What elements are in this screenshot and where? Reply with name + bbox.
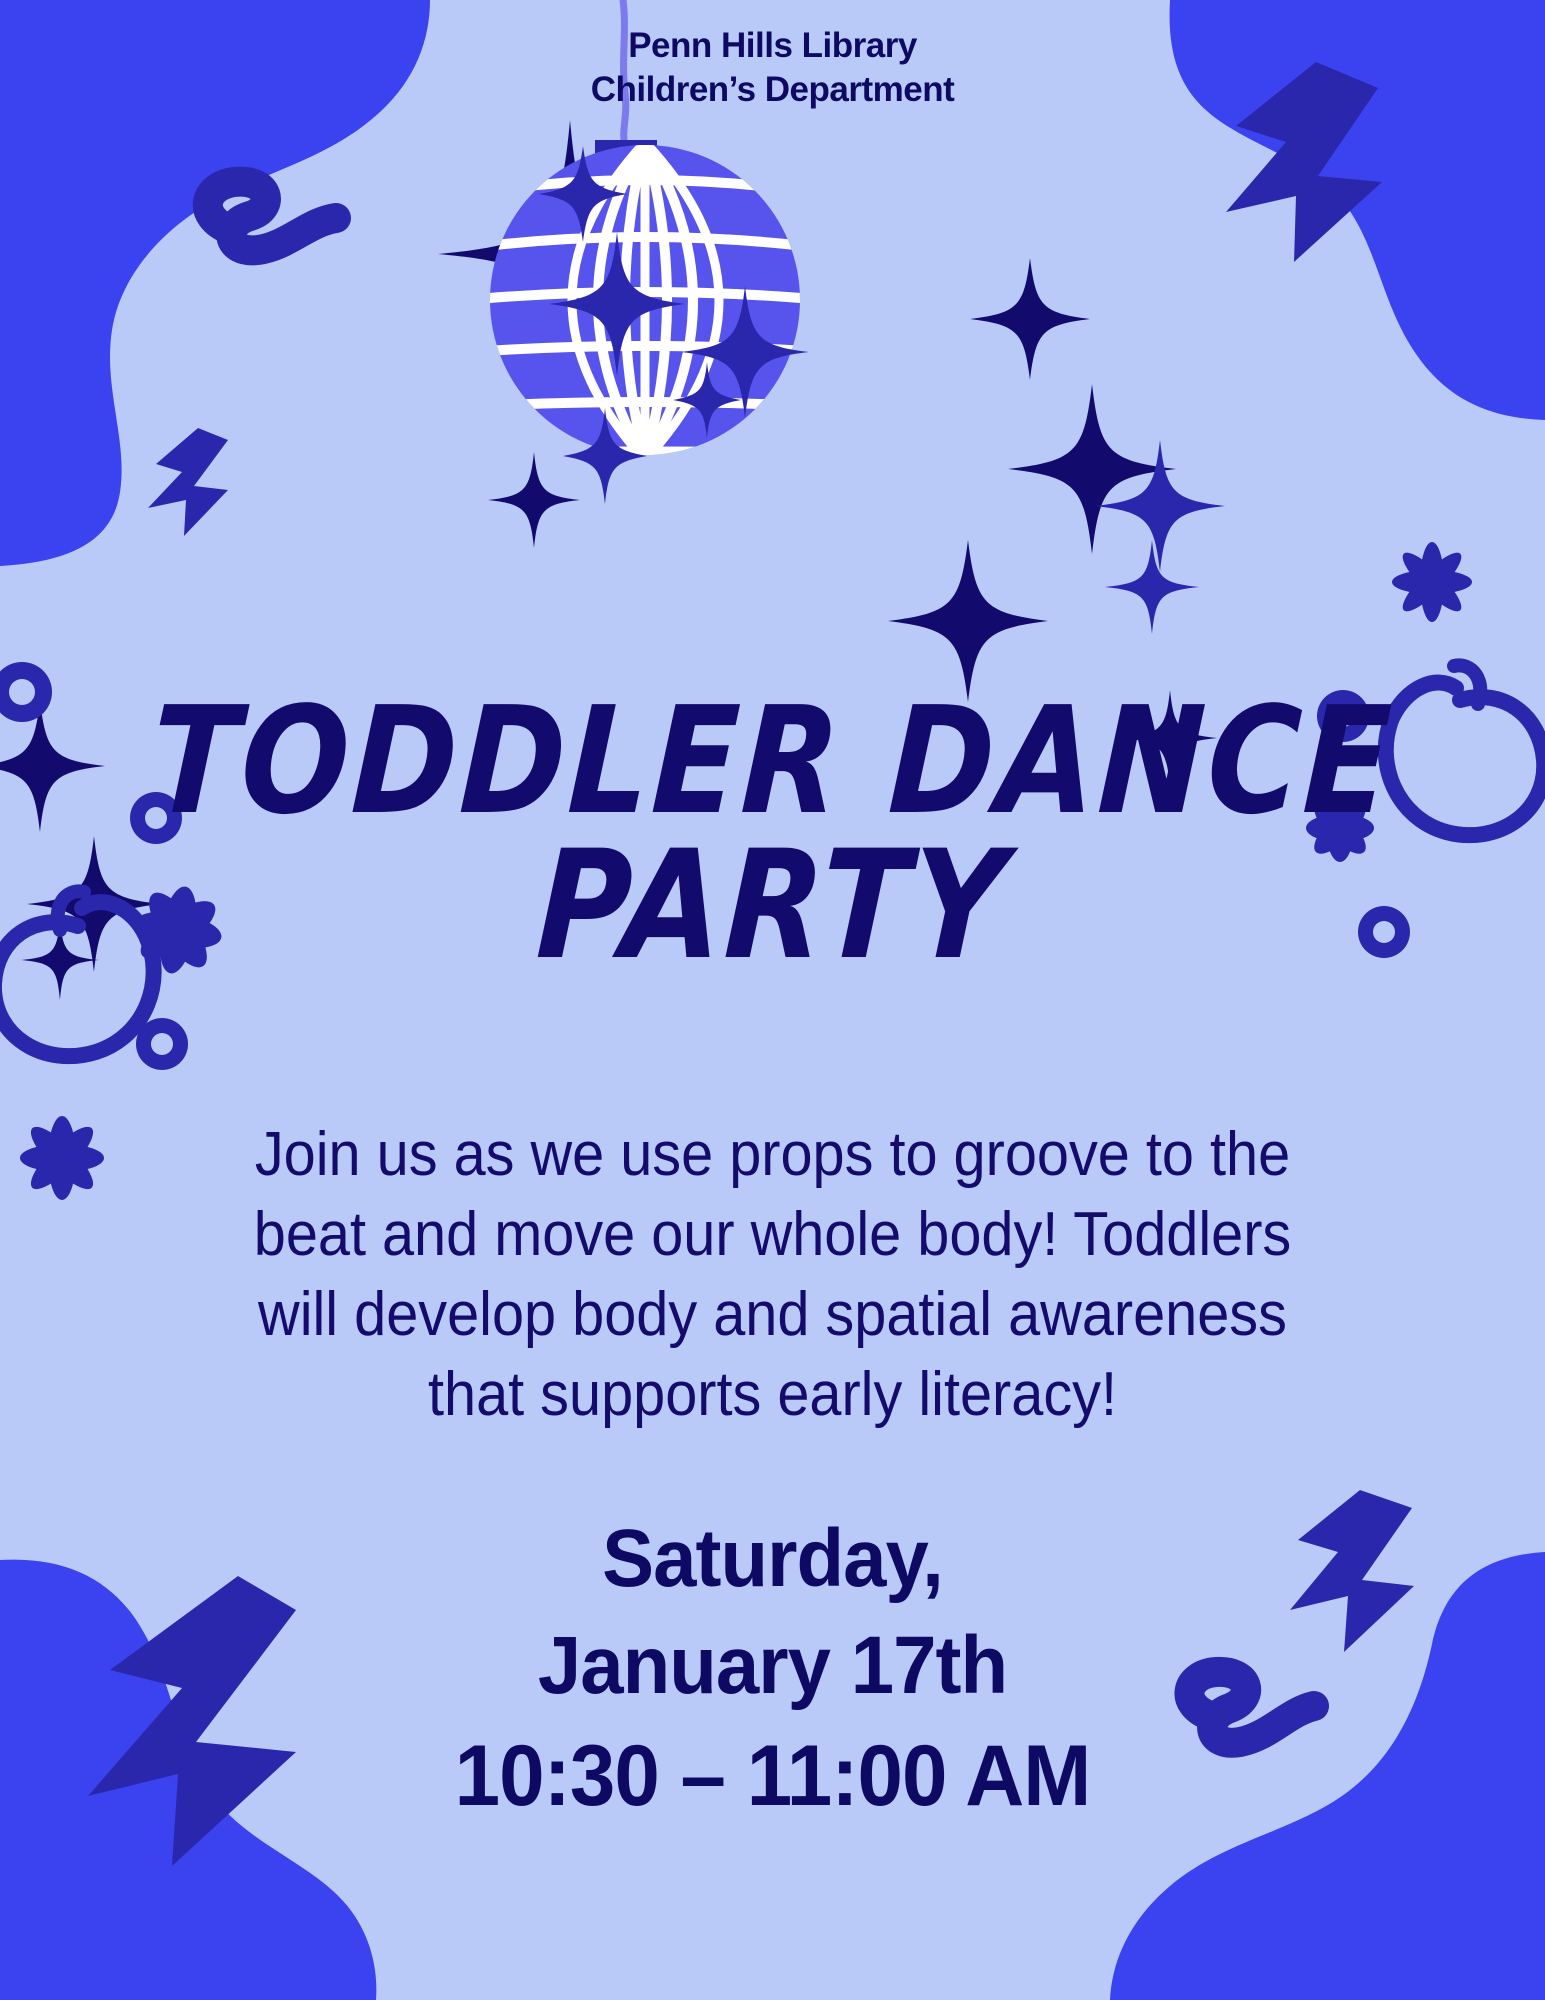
- event-date: January 17th: [39, 1612, 1507, 1719]
- sparkle-star-right-upper: [970, 258, 1090, 380]
- description-line-3: will develop body and spatial awareness: [184, 1275, 1360, 1355]
- description-line-2: beat and move our whole body! Toddlers: [184, 1195, 1360, 1275]
- lightning-bolt-left-small: [148, 428, 228, 536]
- description-line-4: that supports early literacy!: [184, 1355, 1360, 1435]
- flower-burst-left-lower: [20, 1116, 104, 1200]
- title-line-1: TODDLER DANCE: [105, 690, 1440, 834]
- main-title: TODDLER DANCE PARTY: [0, 690, 1545, 979]
- header-line-library: Penn Hills Library: [0, 24, 1545, 68]
- sparkle-star-right-mid: [1008, 384, 1176, 554]
- event-day: Saturday,: [39, 1505, 1507, 1612]
- flower-burst-right-upper: [1392, 542, 1472, 622]
- event-time: 10:30 – 11:00 AM: [39, 1720, 1507, 1833]
- sparkle-star-right-swirl: [1105, 540, 1199, 634]
- header-text: Penn Hills Library Children’s Department: [0, 24, 1545, 113]
- title-line-2: PARTY: [105, 834, 1440, 980]
- description-line-1: Join us as we use props to groove to the: [184, 1115, 1360, 1195]
- header-line-department: Children’s Department: [0, 68, 1545, 112]
- ring-left-bottom: [136, 1018, 188, 1070]
- description-paragraph: Join us as we use props to groove to the…: [184, 1115, 1360, 1435]
- event-datetime: Saturday, January 17th 10:30 – 11:00 AM: [0, 1505, 1545, 1832]
- squiggle-top-left: [208, 182, 336, 251]
- sparkle-star-right-far: [1095, 440, 1225, 572]
- poster-canvas: Penn Hills Library Children’s Department: [0, 0, 1545, 2000]
